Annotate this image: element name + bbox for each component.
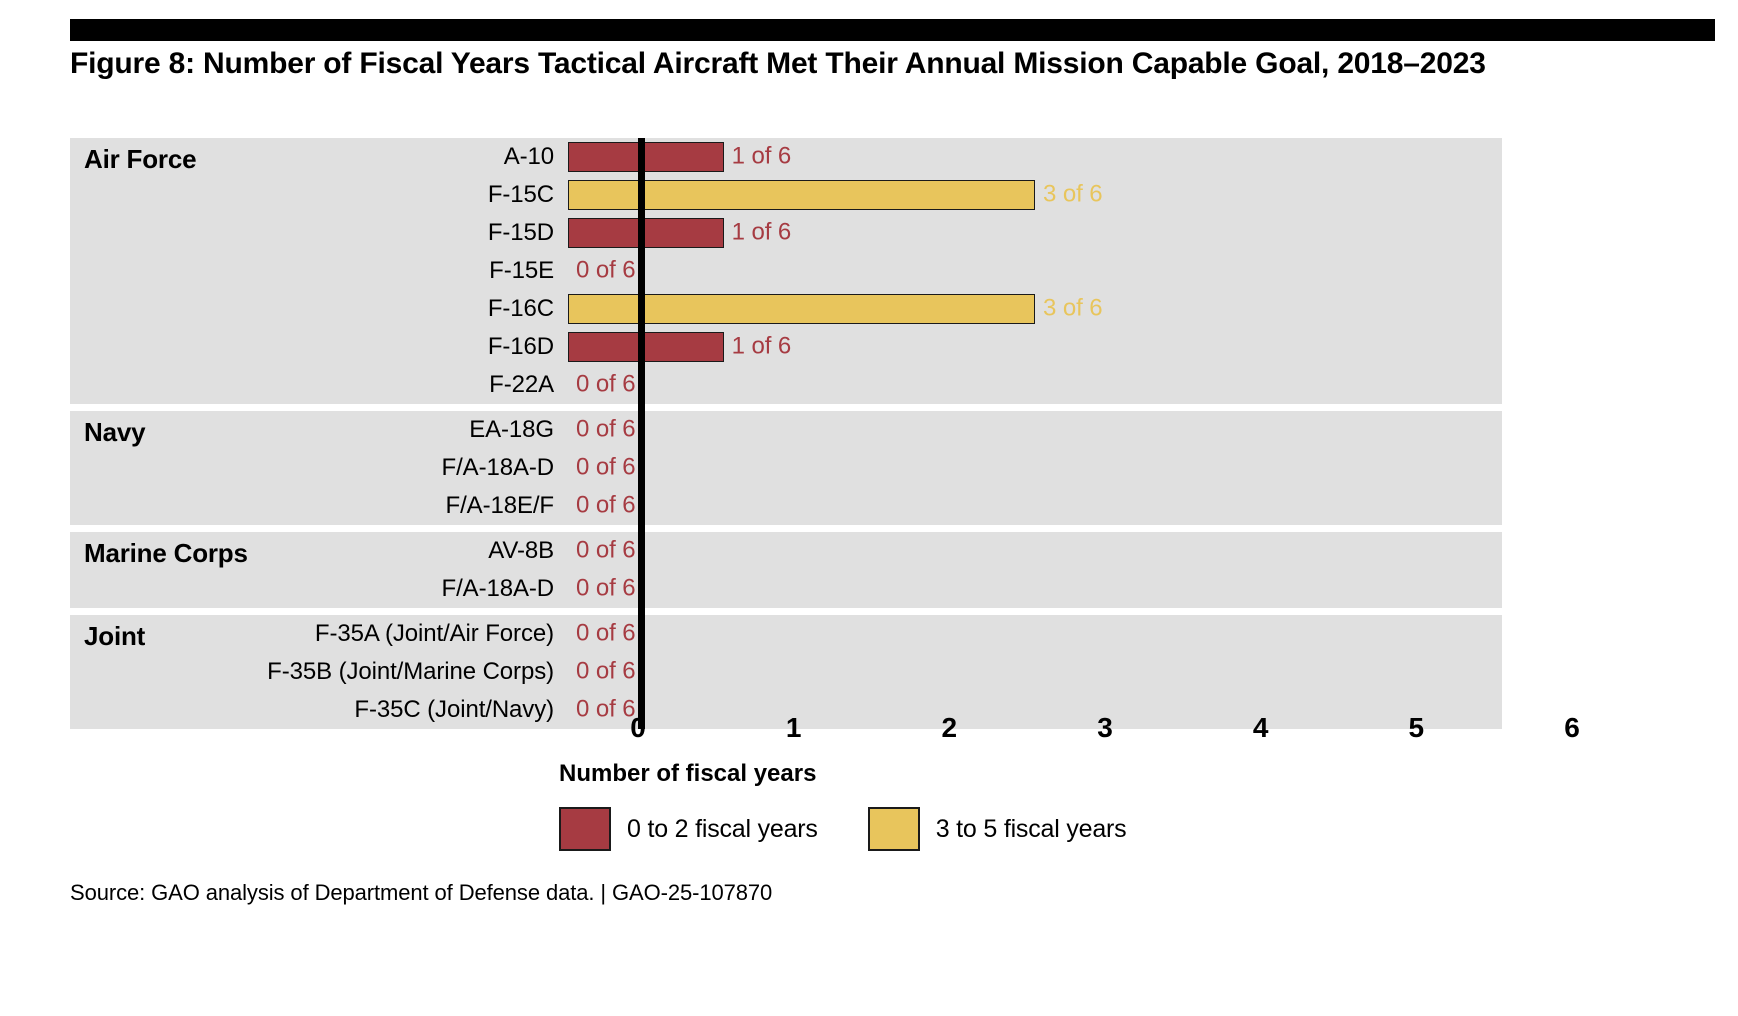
bar bbox=[568, 332, 724, 362]
legend-label: 3 to 5 fiscal years bbox=[936, 815, 1127, 844]
row-label: F-35B (Joint/Marine Corps) bbox=[70, 658, 568, 686]
chart-row: F/A-18E/F0 of 6 bbox=[70, 487, 1502, 525]
legend-item: 3 to 5 fiscal years bbox=[868, 807, 1127, 851]
figure-title: Figure 8: Number of Fiscal Years Tactica… bbox=[70, 45, 1660, 83]
bar-value-label: 1 of 6 bbox=[732, 218, 791, 246]
chart-area: Air ForceA-101 of 6F-15C3 of 6F-15D1 of … bbox=[70, 138, 1670, 708]
x-tick-label: 4 bbox=[1253, 712, 1269, 744]
zero-axis-line bbox=[638, 138, 645, 729]
row-plot: 0 of 6 bbox=[568, 449, 1502, 487]
bar-value-label: 1 of 6 bbox=[732, 142, 791, 170]
row-plot: 0 of 6 bbox=[568, 570, 1502, 608]
x-tick-label: 6 bbox=[1564, 712, 1580, 744]
row-label: F/A-18A-D bbox=[70, 454, 568, 482]
chart-row: F-15D1 of 6 bbox=[70, 214, 1502, 252]
bar-value-label: 3 of 6 bbox=[1043, 180, 1102, 208]
row-label: F-35A (Joint/Air Force) bbox=[70, 620, 568, 648]
row-plot: 1 of 6 bbox=[568, 138, 1502, 176]
bar-value-label: 1 of 6 bbox=[732, 332, 791, 360]
bar-value-label: 0 of 6 bbox=[576, 619, 635, 647]
chart-group: Marine CorpsAV-8B0 of 6F/A-18A-D0 of 6 bbox=[70, 532, 1502, 608]
header-rule bbox=[70, 19, 1715, 41]
bar-value-label: 3 of 6 bbox=[1043, 294, 1102, 322]
row-plot: 0 of 6 bbox=[568, 615, 1502, 653]
bar-value-label: 0 of 6 bbox=[576, 370, 635, 398]
chart-legend: 0 to 2 fiscal years3 to 5 fiscal years bbox=[559, 805, 1126, 853]
chart-row: A-101 of 6 bbox=[70, 138, 1502, 176]
legend-item: 0 to 2 fiscal years bbox=[559, 807, 818, 851]
bar-value-label: 0 of 6 bbox=[576, 491, 635, 519]
row-label: A-10 bbox=[70, 143, 568, 171]
chart-group: Air ForceA-101 of 6F-15C3 of 6F-15D1 of … bbox=[70, 138, 1502, 404]
chart-groups: Air ForceA-101 of 6F-15C3 of 6F-15D1 of … bbox=[70, 138, 1502, 729]
chart-row: F-22A0 of 6 bbox=[70, 366, 1502, 404]
row-plot: 1 of 6 bbox=[568, 214, 1502, 252]
row-label: F-16D bbox=[70, 333, 568, 361]
bar-value-label: 0 of 6 bbox=[576, 657, 635, 685]
chart-row: F-16C3 of 6 bbox=[70, 290, 1502, 328]
source-note: Source: GAO analysis of Department of De… bbox=[70, 880, 772, 906]
bar bbox=[568, 142, 724, 172]
row-label: EA-18G bbox=[70, 416, 568, 444]
row-label: F-16C bbox=[70, 295, 568, 323]
bar-value-label: 0 of 6 bbox=[576, 536, 635, 564]
row-plot: 0 of 6 bbox=[568, 653, 1502, 691]
row-plot: 3 of 6 bbox=[568, 290, 1502, 328]
legend-swatch bbox=[559, 807, 611, 851]
x-tick-label: 5 bbox=[1409, 712, 1425, 744]
x-tick-label: 1 bbox=[786, 712, 802, 744]
chart-row: F-16D1 of 6 bbox=[70, 328, 1502, 366]
bar-value-label: 0 of 6 bbox=[576, 256, 635, 284]
legend-label: 0 to 2 fiscal years bbox=[627, 815, 818, 844]
chart-row: F-15C3 of 6 bbox=[70, 176, 1502, 214]
bar-value-label: 0 of 6 bbox=[576, 415, 635, 443]
x-tick-label: 3 bbox=[1097, 712, 1113, 744]
legend-swatch bbox=[868, 807, 920, 851]
chart-row: F-35B (Joint/Marine Corps)0 of 6 bbox=[70, 653, 1502, 691]
chart-row: F-15E0 of 6 bbox=[70, 252, 1502, 290]
chart-row: EA-18G0 of 6 bbox=[70, 411, 1502, 449]
row-plot: 0 of 6 bbox=[568, 487, 1502, 525]
row-label: F-15D bbox=[70, 219, 568, 247]
chart-row: F/A-18A-D0 of 6 bbox=[70, 570, 1502, 608]
chart-group: NavyEA-18G0 of 6F/A-18A-D0 of 6F/A-18E/F… bbox=[70, 411, 1502, 525]
bar-value-label: 0 of 6 bbox=[576, 453, 635, 481]
x-axis-title: Number of fiscal years bbox=[559, 760, 816, 788]
chart-row: AV-8B0 of 6 bbox=[70, 532, 1502, 570]
row-label: AV-8B bbox=[70, 537, 568, 565]
chart-row: F/A-18A-D0 of 6 bbox=[70, 449, 1502, 487]
row-plot: 0 of 6 bbox=[568, 411, 1502, 449]
row-plot: 0 of 6 bbox=[568, 532, 1502, 570]
x-axis-ticks: 0123456 bbox=[70, 712, 1670, 756]
row-label: F-15C bbox=[70, 181, 568, 209]
figure-page: Figure 8: Number of Fiscal Years Tactica… bbox=[0, 0, 1738, 1016]
row-label: F/A-18E/F bbox=[70, 492, 568, 520]
chart-row: F-35A (Joint/Air Force)0 of 6 bbox=[70, 615, 1502, 653]
row-plot: 1 of 6 bbox=[568, 328, 1502, 366]
x-tick-label: 2 bbox=[942, 712, 958, 744]
row-plot: 3 of 6 bbox=[568, 176, 1502, 214]
row-plot: 0 of 6 bbox=[568, 252, 1502, 290]
bar-value-label: 0 of 6 bbox=[576, 574, 635, 602]
row-plot: 0 of 6 bbox=[568, 366, 1502, 404]
row-label: F-15E bbox=[70, 257, 568, 285]
row-label: F-22A bbox=[70, 371, 568, 399]
row-label: F/A-18A-D bbox=[70, 575, 568, 603]
bar bbox=[568, 218, 724, 248]
